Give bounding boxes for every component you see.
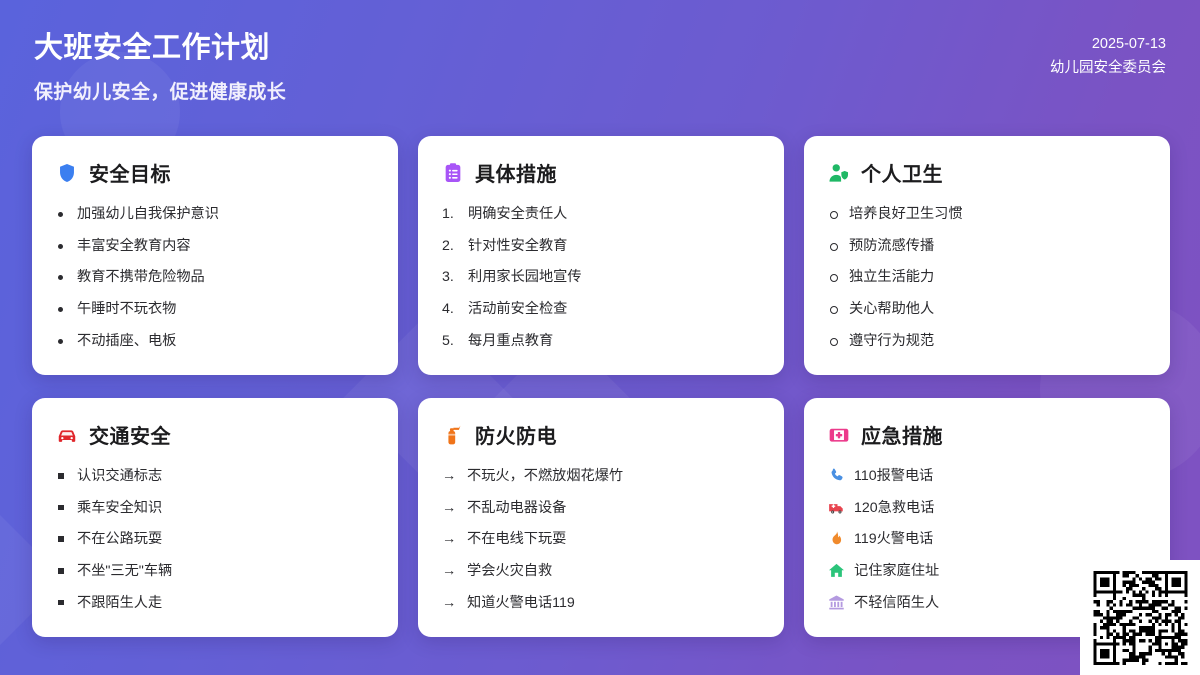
fire-icon [828, 530, 845, 547]
card-title: 个人卫生 [861, 158, 943, 187]
card-title: 应急措施 [861, 420, 943, 449]
header-right: 2025-07-13 幼儿园安全委员会 [1050, 22, 1166, 80]
list-item: 乘车安全知识 [56, 499, 374, 518]
list-item: 不在公路玩耍 [56, 530, 374, 549]
list-item-label: 不动插座、电板 [77, 332, 176, 351]
card-header: 交通安全 [56, 420, 374, 449]
list-item: →不在电线下玩耍 [442, 530, 760, 549]
list-item-label: 不轻信陌生人 [854, 594, 939, 613]
list-item-label: 不乱动电器设备 [467, 499, 566, 518]
first-aid-kit-icon [828, 424, 850, 446]
list-item-label: 培养良好卫生习惯 [849, 205, 963, 224]
list-item: 认识交通标志 [56, 467, 374, 486]
card-item-list: 加强幼儿自我保护意识丰富安全教育内容教育不携带危险物品午睡时不玩衣物不动插座、电… [56, 205, 374, 351]
bullet-number: 3. [442, 268, 459, 287]
list-item-label: 利用家长园地宣传 [468, 268, 582, 287]
list-item: 培养良好卫生习惯 [828, 205, 1146, 224]
list-item: 110报警电话 [828, 467, 1146, 486]
bullet-number: 4. [442, 300, 459, 319]
card-item-list: →不玩火，不燃放烟花爆竹→不乱动电器设备→不在电线下玩耍→学会火灾自救→知道火警… [442, 467, 760, 613]
list-item: 不坐"三无"车辆 [56, 562, 374, 581]
fire-extinguisher-icon [442, 424, 464, 446]
list-item-label: 预防流感传播 [849, 237, 934, 256]
card-safety-goals: 安全目标加强幼儿自我保护意识丰富安全教育内容教育不携带危险物品午睡时不玩衣物不动… [32, 136, 398, 375]
list-item-label: 不坐"三无"车辆 [77, 562, 172, 581]
list-item-label: 活动前安全检查 [468, 300, 567, 319]
list-item: →知道火警电话119 [442, 594, 760, 613]
list-item-label: 119火警电话 [854, 530, 933, 549]
list-item-label: 教育不携带危险物品 [77, 268, 205, 287]
list-item-label: 不玩火，不燃放烟花爆竹 [467, 467, 623, 486]
card-item-list: 认识交通标志乘车安全知识不在公路玩耍不坐"三无"车辆不跟陌生人走 [56, 467, 374, 613]
list-item-label: 记住家庭住址 [854, 562, 939, 581]
bullet-number: 5. [442, 332, 459, 351]
bullet-arrow-icon: → [442, 467, 458, 485]
list-item-label: 知道火警电话119 [467, 594, 575, 613]
bullet-number: 1. [442, 205, 459, 224]
card-header: 个人卫生 [828, 158, 1146, 187]
clipboard-icon [442, 162, 464, 184]
qr-code [1091, 571, 1190, 665]
car-icon [56, 424, 78, 446]
list-item: 关心帮助他人 [828, 300, 1146, 319]
qr-code-container[interactable] [1080, 560, 1200, 675]
list-item-label: 午睡时不玩衣物 [77, 300, 176, 319]
shield-icon [56, 162, 78, 184]
list-item: 教育不携带危险物品 [56, 268, 374, 287]
list-item: 3.利用家长园地宣传 [442, 268, 760, 287]
card-header: 应急措施 [828, 420, 1146, 449]
page-subtitle: 保护幼儿安全，促进健康成长 [34, 77, 286, 104]
bank-building-icon [828, 594, 845, 611]
card-title: 交通安全 [89, 420, 171, 449]
card-title: 防火防电 [475, 420, 557, 449]
header-left: 大班安全工作计划 保护幼儿安全，促进健康成长 [34, 22, 286, 104]
list-item: →不玩火，不燃放烟花爆竹 [442, 467, 760, 486]
bullet-number: 2. [442, 237, 459, 256]
list-item-label: 加强幼儿自我保护意识 [77, 205, 219, 224]
list-item: →不乱动电器设备 [442, 499, 760, 518]
list-item-label: 不在电线下玩耍 [467, 530, 566, 549]
list-item: 加强幼儿自我保护意识 [56, 205, 374, 224]
list-item-label: 关心帮助他人 [849, 300, 934, 319]
list-item-label: 针对性安全教育 [468, 237, 567, 256]
list-item: 不跟陌生人走 [56, 594, 374, 613]
list-item: →学会火灾自救 [442, 562, 760, 581]
list-item-label: 独立生活能力 [849, 268, 934, 287]
list-item-label: 丰富安全教育内容 [77, 237, 191, 256]
list-item-label: 110报警电话 [854, 467, 933, 486]
bullet-arrow-icon: → [442, 594, 458, 612]
page-title: 大班安全工作计划 [34, 30, 286, 66]
list-item-label: 学会火灾自救 [467, 562, 552, 581]
card-traffic-safety: 交通安全认识交通标志乘车安全知识不在公路玩耍不坐"三无"车辆不跟陌生人走 [32, 398, 398, 637]
list-item: 丰富安全教育内容 [56, 237, 374, 256]
list-item: 2.针对性安全教育 [442, 237, 760, 256]
card-personal-hygiene: 个人卫生培养良好卫生习惯预防流感传播独立生活能力关心帮助他人遵守行为规范 [804, 136, 1170, 375]
list-item: 119火警电话 [828, 530, 1146, 549]
card-item-list: 培养良好卫生习惯预防流感传播独立生活能力关心帮助他人遵守行为规范 [828, 205, 1146, 351]
list-item: 不动插座、电板 [56, 332, 374, 351]
list-item-label: 遵守行为规范 [849, 332, 934, 351]
list-item-label: 不跟陌生人走 [77, 594, 162, 613]
list-item-label: 明确安全责任人 [468, 205, 567, 224]
bullet-arrow-icon: → [442, 530, 458, 548]
card-header: 防火防电 [442, 420, 760, 449]
card-header: 安全目标 [56, 158, 374, 187]
list-item: 5.每月重点教育 [442, 332, 760, 351]
phone-icon [828, 467, 845, 484]
header-date: 2025-07-13 [1092, 34, 1166, 56]
card-concrete-measures: 具体措施1.明确安全责任人2.针对性安全教育3.利用家长园地宣传4.活动前安全检… [418, 136, 784, 375]
list-item-label: 认识交通标志 [77, 467, 162, 486]
list-item-label: 120急救电话 [854, 499, 934, 518]
card-fire-electric-safety: 防火防电→不玩火，不燃放烟花爆竹→不乱动电器设备→不在电线下玩耍→学会火灾自救→… [418, 398, 784, 637]
list-item: 1.明确安全责任人 [442, 205, 760, 224]
bullet-arrow-icon: → [442, 499, 458, 517]
header-organization: 幼儿园安全委员会 [1050, 56, 1166, 81]
person-shield-icon [828, 162, 850, 184]
bullet-arrow-icon: → [442, 562, 458, 580]
cards-grid: 安全目标加强幼儿自我保护意识丰富安全教育内容教育不携带危险物品午睡时不玩衣物不动… [32, 136, 1168, 637]
list-item: 120急救电话 [828, 499, 1146, 518]
page-header: 大班安全工作计划 保护幼儿安全，促进健康成长 2025-07-13 幼儿园安全委… [0, 0, 1200, 120]
list-item-label: 不在公路玩耍 [77, 530, 162, 549]
ambulance-icon [828, 499, 845, 516]
card-title: 具体措施 [475, 158, 557, 187]
list-item: 遵守行为规范 [828, 332, 1146, 351]
card-header: 具体措施 [442, 158, 760, 187]
list-item: 午睡时不玩衣物 [56, 300, 374, 319]
card-item-list: 1.明确安全责任人2.针对性安全教育3.利用家长园地宣传4.活动前安全检查5.每… [442, 205, 760, 351]
list-item: 4.活动前安全检查 [442, 300, 760, 319]
card-title: 安全目标 [89, 158, 171, 187]
house-icon [828, 562, 845, 579]
list-item: 独立生活能力 [828, 268, 1146, 287]
list-item: 预防流感传播 [828, 237, 1146, 256]
list-item-label: 每月重点教育 [468, 332, 553, 351]
list-item-label: 乘车安全知识 [77, 499, 162, 518]
